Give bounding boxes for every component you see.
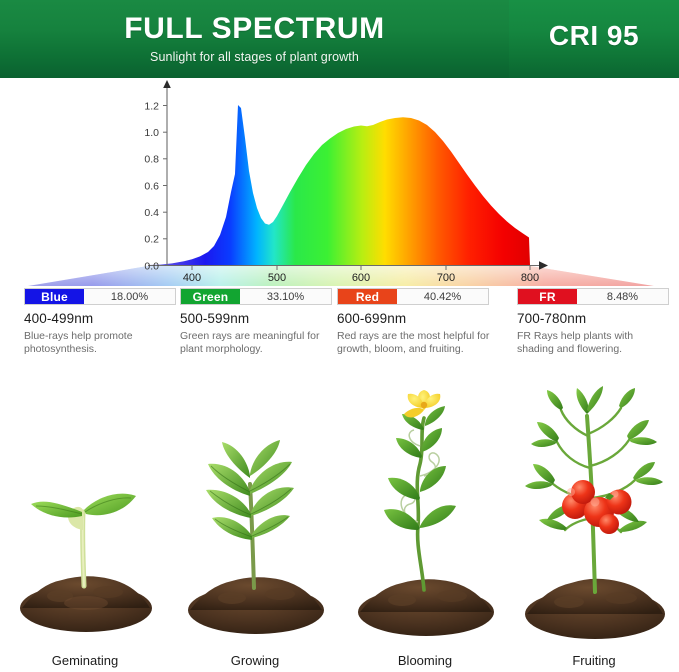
y-tick-label: 0.8 [144, 154, 159, 166]
spectrum-chart: 0.0 0.2 0.4 0.6 0.8 1.0 1.2 400 500 600 … [0, 78, 679, 286]
tomato-plant-illustration [509, 380, 679, 640]
band-fr-name: FR [518, 289, 577, 304]
band-green-description: Green rays are meaningful for plant morp… [180, 330, 332, 356]
band-fr-range: 700-780nm [517, 311, 669, 326]
y-tick-label: 1.0 [144, 127, 159, 139]
x-tick-label: 500 [268, 272, 286, 284]
stage-label-geminating: Geminating [0, 653, 170, 668]
band-red-percent: 40.42% [397, 289, 488, 304]
y-tick-label: 0.0 [144, 260, 159, 272]
header-banner: FULL SPECTRUM Sunlight for all stages of… [0, 0, 679, 78]
spectrum-chart-svg: 0.0 0.2 0.4 0.6 0.8 1.0 1.2 400 500 600 … [0, 78, 679, 286]
growth-stage-geminating: Geminating [0, 372, 170, 672]
band-blue: Blue 18.00% 400-499nm Blue-rays help pro… [24, 288, 176, 356]
stage-label-growing: Growing [170, 653, 340, 668]
band-red-range: 600-699nm [337, 311, 505, 326]
band-fr-header: FR 8.48% [517, 288, 669, 305]
band-blue-description: Blue-rays help promote photosynthesis. [24, 330, 176, 356]
growth-stage-growing: Growing [170, 372, 340, 672]
band-fr-description: FR Rays help plants with shading and flo… [517, 330, 669, 356]
band-green: Green 33.10% 500-599nm Green rays are me… [180, 288, 332, 356]
wavelength-bands: Blue 18.00% 400-499nm Blue-rays help pro… [0, 288, 679, 368]
x-tick-label: 600 [352, 272, 370, 284]
stage-label-blooming: Blooming [340, 653, 510, 668]
band-blue-range: 400-499nm [24, 311, 176, 326]
band-red: Red 40.42% 600-699nm Red rays are the mo… [337, 288, 505, 356]
y-axis-ticks: 0.0 0.2 0.4 0.6 0.8 1.0 1.2 [144, 100, 167, 272]
band-green-percent: 33.10% [240, 289, 331, 304]
band-blue-header: Blue 18.00% [24, 288, 176, 305]
flowering-plant-illustration [340, 380, 510, 640]
growth-stage-fruiting: Fruiting [509, 372, 679, 672]
band-green-name: Green [181, 289, 240, 304]
growth-stages: Geminating [0, 372, 679, 672]
full-spectrum-infographic: FULL SPECTRUM Sunlight for all stages of… [0, 0, 679, 672]
y-tick-label: 0.2 [144, 234, 159, 246]
spectrum-curve-fill [148, 98, 530, 266]
page-subtitle: Sunlight for all stages of plant growth [0, 50, 509, 64]
y-axis-arrow [163, 80, 171, 88]
x-tick-label: 800 [521, 272, 539, 284]
band-blue-percent: 18.00% [84, 289, 175, 304]
band-fr-percent: 8.48% [577, 289, 668, 304]
tomato-cluster [562, 480, 632, 534]
seedling-illustration [0, 380, 170, 640]
stage-label-fruiting: Fruiting [509, 653, 679, 668]
band-green-range: 500-599nm [180, 311, 332, 326]
x-tick-label: 700 [437, 272, 455, 284]
cri-badge: CRI 95 [509, 20, 679, 52]
growth-stage-blooming: Blooming [340, 372, 510, 672]
page-title: FULL SPECTRUM [0, 12, 509, 46]
band-fr: FR 8.48% 700-780nm FR Rays help plants w… [517, 288, 669, 356]
band-blue-name: Blue [25, 289, 84, 304]
y-tick-label: 0.6 [144, 180, 159, 192]
spectrum-wedge-sheen [22, 266, 660, 286]
x-tick-label: 400 [183, 272, 201, 284]
band-red-description: Red rays are the most helpful for growth… [337, 330, 505, 356]
band-green-header: Green 33.10% [180, 288, 332, 305]
band-red-name: Red [338, 289, 397, 304]
y-tick-label: 1.2 [144, 100, 159, 112]
leafy-plant-illustration [170, 380, 340, 640]
y-tick-label: 0.4 [144, 207, 159, 219]
band-red-header: Red 40.42% [337, 288, 489, 305]
